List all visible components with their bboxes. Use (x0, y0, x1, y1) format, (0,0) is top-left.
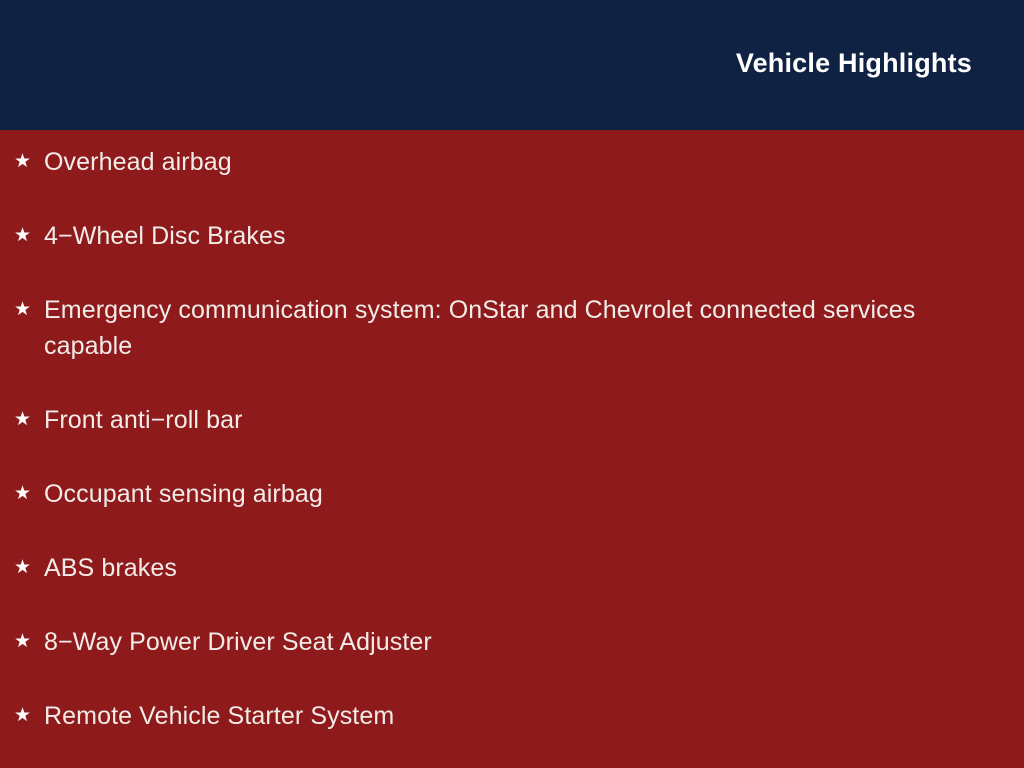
list-item: ★ Remote Vehicle Starter System (14, 698, 986, 734)
star-bullet-icon: ★ (14, 698, 36, 734)
slide-header: Vehicle Highlights (0, 0, 1024, 130)
list-item: ★ ABS brakes (14, 550, 986, 586)
list-item-label: 4−Wheel Disc Brakes (44, 218, 986, 254)
star-bullet-icon: ★ (14, 476, 36, 512)
list-item: ★ Front anti−roll bar (14, 402, 986, 438)
star-bullet-icon: ★ (14, 402, 36, 438)
star-bullet-icon: ★ (14, 144, 36, 180)
list-item-label: Overhead airbag (44, 144, 986, 180)
list-item: ★ 4−Wheel Disc Brakes (14, 218, 986, 254)
list-item-label: Occupant sensing airbag (44, 476, 986, 512)
page-title: Vehicle Highlights (736, 46, 972, 80)
list-item-label: Emergency communication system: OnStar a… (44, 292, 986, 364)
list-item: ★ Overhead airbag (14, 144, 986, 180)
list-item: ★ Emergency communication system: OnStar… (14, 292, 986, 364)
star-bullet-icon: ★ (14, 218, 36, 254)
star-bullet-icon: ★ (14, 624, 36, 660)
list-item-label: Front anti−roll bar (44, 402, 986, 438)
slide-body: ★ Overhead airbag ★ 4−Wheel Disc Brakes … (0, 130, 1024, 768)
list-item: ★ Occupant sensing airbag (14, 476, 986, 512)
list-item-label: Remote Vehicle Starter System (44, 698, 986, 734)
star-bullet-icon: ★ (14, 550, 36, 586)
star-bullet-icon: ★ (14, 292, 36, 328)
list-item-label: 8−Way Power Driver Seat Adjuster (44, 624, 986, 660)
vehicle-highlights-slide: Vehicle Highlights ★ Overhead airbag ★ 4… (0, 0, 1024, 768)
list-item-label: ABS brakes (44, 550, 986, 586)
vehicle-highlights-list: ★ Overhead airbag ★ 4−Wheel Disc Brakes … (14, 144, 986, 734)
list-item: ★ 8−Way Power Driver Seat Adjuster (14, 624, 986, 660)
